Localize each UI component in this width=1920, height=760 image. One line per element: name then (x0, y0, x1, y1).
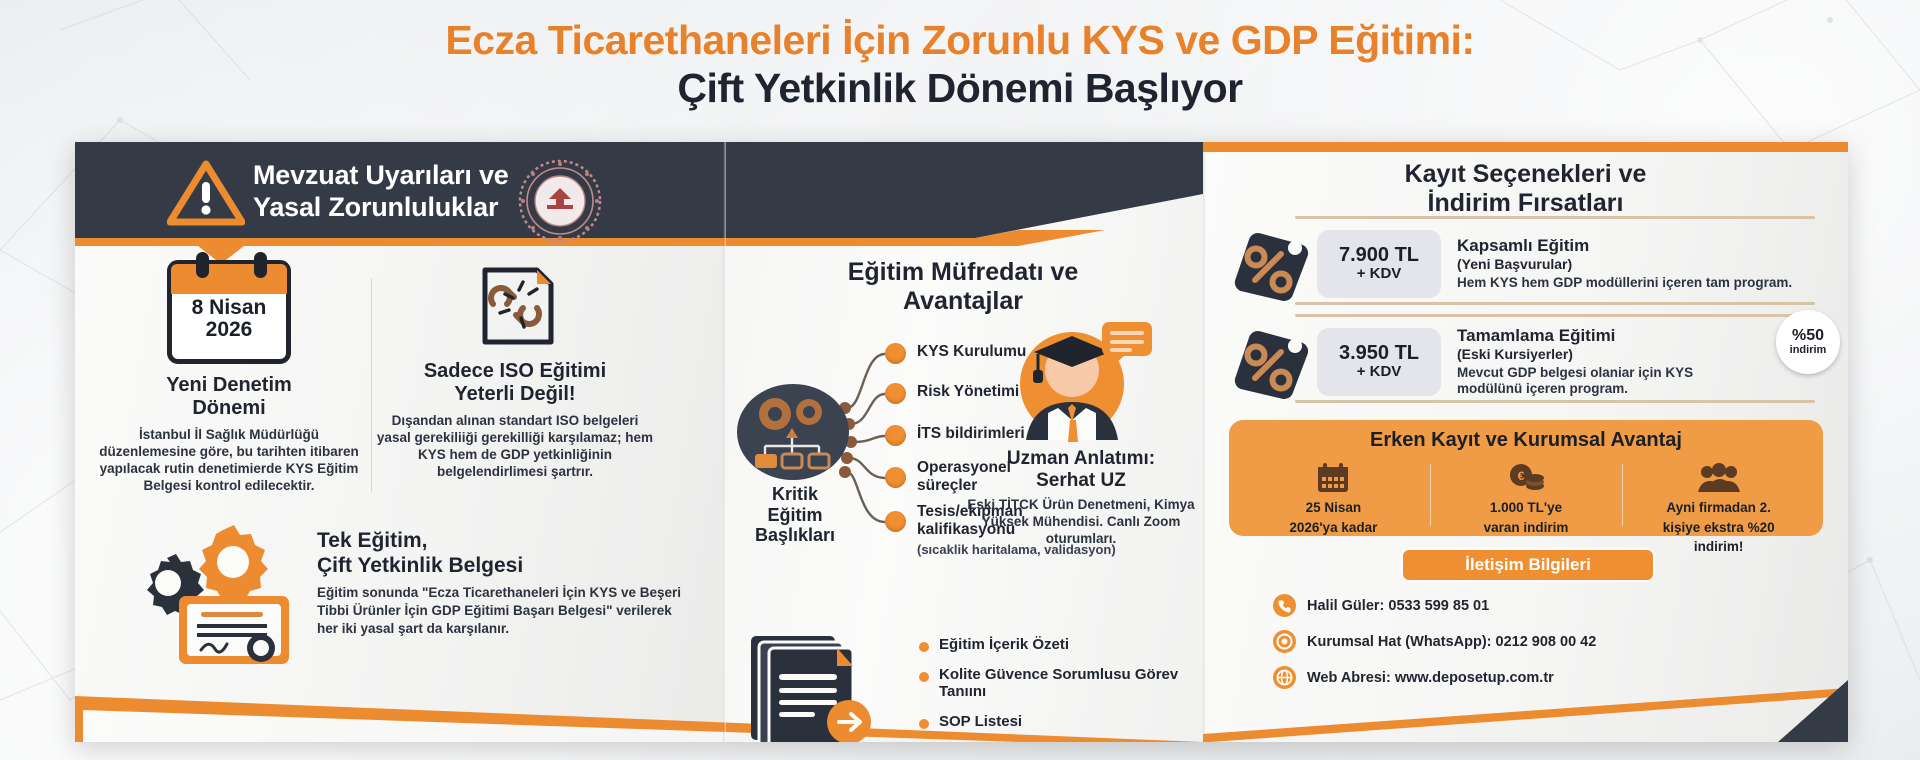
price-amount-pill: 7.900 TL + KDV (1317, 230, 1441, 298)
mid-title-line-1: Eğitim Müfredatı ve (723, 258, 1203, 287)
early-reg-item: Ayni firmadan 2. kişiye ekstra %20 indir… (1622, 460, 1815, 555)
card-new-inspection-period: 8 Nisan 2026 Yeni Denetim Dönemi İstanbu… (93, 260, 365, 495)
discount-percent: %50 (1792, 328, 1824, 344)
expert-body: Eski TİTCK Ürün Denetmeni, Kimya Yüksek … (965, 496, 1197, 547)
price-amount-pill: 3.950 TL + KDV (1317, 328, 1441, 396)
contact-text: Web Abresi: www.deposetup.com.tr (1307, 670, 1554, 686)
early-reg-line-2: varan indirim (1430, 520, 1623, 536)
contact-label: Halil Güler: (1307, 598, 1384, 614)
price-tag-icon (1225, 222, 1321, 306)
price-option-completion[interactable]: 3.950 TL + KDV Tamamlama Eğitimi (Eski K… (1225, 318, 1825, 406)
gears-certificate-icon (105, 514, 301, 664)
expert-block: Uzman Anlatımı: Serhat UZ Eski TİTCK Ürü… (965, 312, 1197, 547)
svg-text:€: € (1518, 469, 1525, 483)
price-amount: 3.950 TL (1339, 343, 1419, 364)
early-reg-item: € 1.000 TL'ye varan indirim (1430, 460, 1623, 555)
bullet-dot-5 (885, 511, 906, 532)
hub-label-line-2: Eğitim (723, 505, 867, 526)
early-registration-box: Erken Kayıt ve Kurumsal Avantaj (1229, 420, 1823, 536)
bullet-dot-icon (919, 672, 929, 682)
discount-badge: %50 indirim (1776, 310, 1840, 374)
hub-label-line-3: Başlıkları (723, 525, 867, 546)
docs-item-label: Kolite Güvence Sorumlusu Görev Tanıını (939, 666, 1199, 701)
hub-label-line-1: Kritik (723, 484, 867, 505)
network-hub (737, 384, 849, 480)
right-section-title: Kayıt Seçenekleri ve İndirim Fırsatları (1203, 160, 1848, 218)
early-reg-line-1: 25 Nisan (1237, 500, 1430, 516)
price-kdv: + KDV (1357, 266, 1402, 283)
contact-item-whatsapp[interactable]: Kurumsal Hat (WhatsApp): 0212 908 00 42 (1273, 630, 1813, 653)
bullet-dot-1 (885, 343, 906, 364)
price-heading: Kapsamlı Eğitim (1457, 236, 1792, 256)
ministry-seal-icon (517, 158, 603, 249)
card-iso-heading-1: Sadece ISO Eğitimi (375, 360, 655, 383)
contact-item-phone[interactable]: Halil Güler: 0533 599 85 01 (1273, 594, 1813, 617)
brochure: Mevzuat Uyarıları ve Yasal Zorunluluklar (75, 142, 1848, 742)
docs-list-item: Eğitim İçerik Özeti (919, 636, 1199, 654)
contact-value: 0533 599 85 01 (1388, 598, 1489, 614)
whatsapp-icon (1273, 630, 1296, 653)
right-panel-content: Kayıt Seçenekleri ve İndirim Fırsatları (1203, 142, 1848, 742)
price-divider-top-2 (1295, 314, 1815, 317)
right-title-line-2: İndirim Fırsatları (1203, 189, 1848, 218)
price-tag-icon (1225, 320, 1321, 404)
docs-item-label: SOP Listesi (939, 713, 1022, 731)
contact-text: Halil Güler: 0533 599 85 01 (1307, 598, 1489, 614)
header-title-line-1: Mevzuat Uyarıları ve (253, 160, 509, 192)
card-iso-heading-2: Yeterli Değil! (375, 383, 655, 406)
price-kdv: + KDV (1357, 364, 1402, 381)
price-detail: Mevcut GDP belgesi olaniar için KYS modü… (1457, 365, 1741, 398)
card-date-heading-1: Yeni Denetim (93, 374, 365, 397)
calendar-icon (1237, 460, 1430, 496)
coins-icon: € (1430, 460, 1623, 496)
card-date-heading-2: Dönemi (93, 397, 365, 420)
bullet-dot-4 (885, 467, 906, 488)
free-documents-block: Ücretsiz Paylaşılacak Dökümanlar Eğitim … (723, 622, 1203, 742)
price-option-comprehensive[interactable]: 7.900 TL + KDV Kapsamlı Eğitim (Yeni Baş… (1225, 220, 1825, 308)
docs-list-item: SOP Listesi (919, 713, 1199, 731)
header-title: Mevzuat Uyarıları ve Yasal Zorunluluklar (253, 160, 509, 224)
price-description-block: Tamamlama Eğitimi (Eski Kursiyerler) Mev… (1441, 326, 1741, 398)
docs-list-item: Kolite Güvence Sorumlusu Görev Tanıını (919, 666, 1199, 701)
expert-avatar-icon (1006, 312, 1156, 442)
left-panel-divider (371, 278, 372, 492)
right-top-accent-bar (1203, 142, 1848, 152)
contact-label: Web Abresi: (1307, 670, 1391, 686)
early-reg-line-1: 1.000 TL'ye (1430, 500, 1623, 516)
expert-heading-1: Uzman Anlatımı: (965, 448, 1197, 470)
early-registration-heading: Erken Kayıt ve Kurumsal Avantaj (1237, 429, 1815, 452)
warning-triangle-icon (167, 160, 245, 231)
calendar-icon: 8 Nisan 2026 (167, 260, 291, 364)
people-icon (1622, 460, 1815, 496)
broken-chain-document-icon (463, 260, 567, 352)
contact-value: 0212 908 00 42 (1496, 634, 1597, 650)
contact-text: Kurumsal Hat (WhatsApp): 0212 908 00 42 (1307, 634, 1596, 650)
card-tek-heading-2: Çift Yetkinlik Belgesi (317, 553, 695, 578)
bullet-dot-2 (885, 383, 906, 404)
right-title-line-1: Kayıt Seçenekleri ve (1203, 160, 1848, 189)
page-title: Ecza Ticarethaneleri İçin Zorunlu KYS ve… (0, 18, 1920, 112)
price-subheading: (Eski Kursiyerler) (1457, 346, 1741, 362)
docs-list: Eğitim İçerik Özeti Kolite Güvence Sorum… (919, 636, 1199, 742)
left-panel-content: 8 Nisan 2026 Yeni Denetim Dönemi İstanbu… (75, 246, 723, 706)
early-reg-line-2: 2026'ya kadar (1237, 520, 1430, 536)
title-line-1: Ecza Ticarethaneleri İçin Zorunlu KYS ve… (0, 18, 1920, 64)
contact-list: Halil Güler: 0533 599 85 01 Kurumsal Hat… (1273, 594, 1813, 702)
infographic-canvas: Ecza Ticarethaneleri İçin Zorunlu KYS ve… (0, 0, 1920, 760)
calendar-year: 2026 (172, 319, 286, 341)
price-amount: 7.900 TL (1339, 245, 1419, 266)
mid-section-title: Eğitim Müfredatı ve Avantajlar (723, 258, 1203, 316)
documents-stack-icon (745, 630, 895, 742)
card-date-body: İstanbul İl Sağlık Müdürlüğü düzenlemesi… (93, 426, 365, 495)
card-tek-body: Eğitim sonunda "Ecza Ticarethaneleri İçi… (317, 584, 695, 637)
contact-label: Kurumsal Hat (WhatsApp): (1307, 634, 1491, 650)
bullet-dot-icon (919, 719, 929, 729)
contact-heading: İletişim Bilgileri (1401, 548, 1655, 582)
docs-item-label: Eğitim İçerik Özeti (939, 636, 1069, 654)
contact-value: www.deposetup.com.tr (1395, 670, 1554, 686)
price-description-block: Kapsamlı Eğitim (Yeni Başvurular) Hem KY… (1441, 236, 1792, 292)
price-detail: Hem KYS hem GDP modüllerini içeren tam p… (1457, 275, 1792, 292)
calendar-day: 8 Nisan (172, 297, 286, 319)
discount-label: indirim (1790, 344, 1827, 356)
header-title-line-2: Yasal Zorunluluklar (253, 192, 509, 224)
price-heading: Tamamlama Eğitimi (1457, 326, 1741, 346)
bullet-dot-icon (919, 642, 929, 652)
card-tek-heading-1: Tek Eğitim, (317, 528, 695, 553)
card-iso-body: Dışandan alınan standart ISO belgeleri y… (375, 412, 655, 481)
price-subheading: (Yeni Başvurular) (1457, 256, 1792, 272)
phone-icon (1273, 594, 1296, 617)
expert-heading-2: Serhat UZ (965, 470, 1197, 492)
card-dual-competency-certificate: Tek Eğitim, Çift Yetkinlik Belgesi Eğiti… (105, 514, 695, 664)
globe-icon (1273, 666, 1296, 689)
early-reg-line-2: kişiye ekstra %20 (1622, 520, 1815, 536)
early-reg-line-1: Ayni firmadan 2. (1622, 500, 1815, 516)
bullet-dot-3 (885, 425, 906, 446)
early-reg-item: 25 Nisan 2026'ya kadar (1237, 460, 1430, 555)
hub-label: Kritik Eğitim Başlıkları (723, 484, 867, 546)
contact-item-web[interactable]: Web Abresi: www.deposetup.com.tr (1273, 666, 1813, 689)
card-iso-not-enough: Sadece ISO Eğitimi Yeterli Değil! Dışand… (375, 260, 655, 481)
title-line-2: Çift Yetkinlik Dönemi Başlıyor (0, 66, 1920, 112)
